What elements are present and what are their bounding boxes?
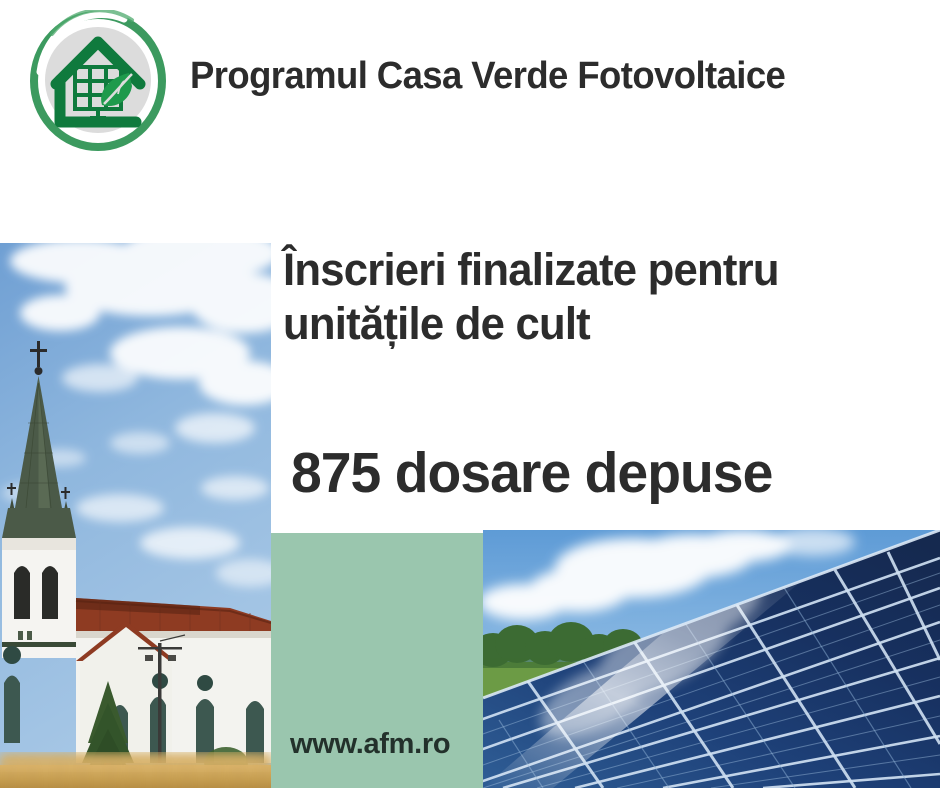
poster-canvas: Programul Casa Verde Fotovoltaice — [0, 0, 940, 788]
casa-verde-logo — [28, 10, 168, 152]
solar-panel-photograph — [483, 530, 940, 788]
church-photograph — [0, 243, 271, 788]
website-url[interactable]: www.afm.ro — [290, 727, 450, 761]
page-title: Programul Casa Verde Fotovoltaice — [190, 53, 785, 99]
statistic-text: 875 dosare depuse — [291, 441, 772, 505]
headline-line-1: Înscrieri finalizate pentru — [283, 243, 914, 297]
headline-block: Înscrieri finalizate pentru unitățile de… — [283, 243, 914, 351]
header-bar: Programul Casa Verde Fotovoltaice — [0, 0, 940, 210]
headline-line-2: unitățile de cult — [283, 297, 914, 351]
